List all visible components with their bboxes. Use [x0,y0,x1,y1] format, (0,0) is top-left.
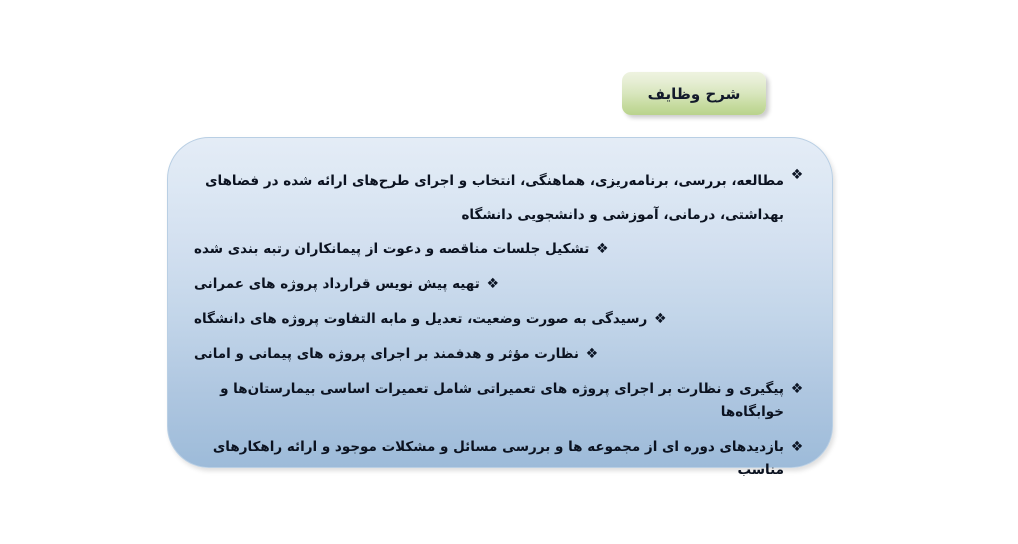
diamond-bullet-icon: ❖ [651,308,669,331]
duties-panel: ❖ مطالعه، بررسی، برنامه‌ریزی، هماهنگی، ا… [167,137,833,468]
diamond-bullet-icon: ❖ [788,164,806,187]
list-item-label: مطالعه، بررسی، برنامه‌ریزی، هماهنگی، انت… [194,164,784,232]
list-item-label: بازدیدهای دوره ای از مجموعه ها و بررسی م… [194,436,784,482]
diamond-bullet-icon: ❖ [788,436,806,459]
list-item: ❖ مطالعه، بررسی، برنامه‌ریزی، هماهنگی، ا… [194,164,806,232]
page-title: شرح وظایف [648,85,741,103]
list-item: ❖ تشکیل جلسات مناقصه و دعوت از پیمانکارا… [194,238,806,261]
diamond-bullet-icon: ❖ [593,238,611,261]
list-item: ❖ رسیدگی به صورت وضعیت، تعدیل و مابه الت… [194,308,806,331]
list-item: ❖ تهیه پیش نویس قرارداد پروژه های عمرانی [194,273,806,296]
diamond-bullet-icon: ❖ [484,273,502,296]
list-item: ❖ پیگیری و نظارت بر اجرای پروژه های تعمی… [194,378,806,424]
section-title-box: شرح وظایف [622,72,766,115]
list-item: ❖ بازدیدهای دوره ای از مجموعه ها و بررسی… [194,436,806,482]
list-item-label: پیگیری و نظارت بر اجرای پروژه های تعمیرا… [194,378,784,424]
list-item-label: رسیدگی به صورت وضعیت، تعدیل و مابه التفا… [194,308,647,331]
duties-list: ❖ مطالعه، بررسی، برنامه‌ریزی، هماهنگی، ا… [168,138,832,467]
list-item: ❖ نظارت مؤثر و هدفمند بر اجرای پروژه های… [194,343,806,366]
diamond-bullet-icon: ❖ [788,378,806,401]
list-item-label: نظارت مؤثر و هدفمند بر اجرای پروژه های پ… [194,343,579,366]
list-item-label: تهیه پیش نویس قرارداد پروژه های عمرانی [194,273,480,296]
list-item-label: تشکیل جلسات مناقصه و دعوت از پیمانکاران … [194,238,589,261]
diamond-bullet-icon: ❖ [583,343,601,366]
